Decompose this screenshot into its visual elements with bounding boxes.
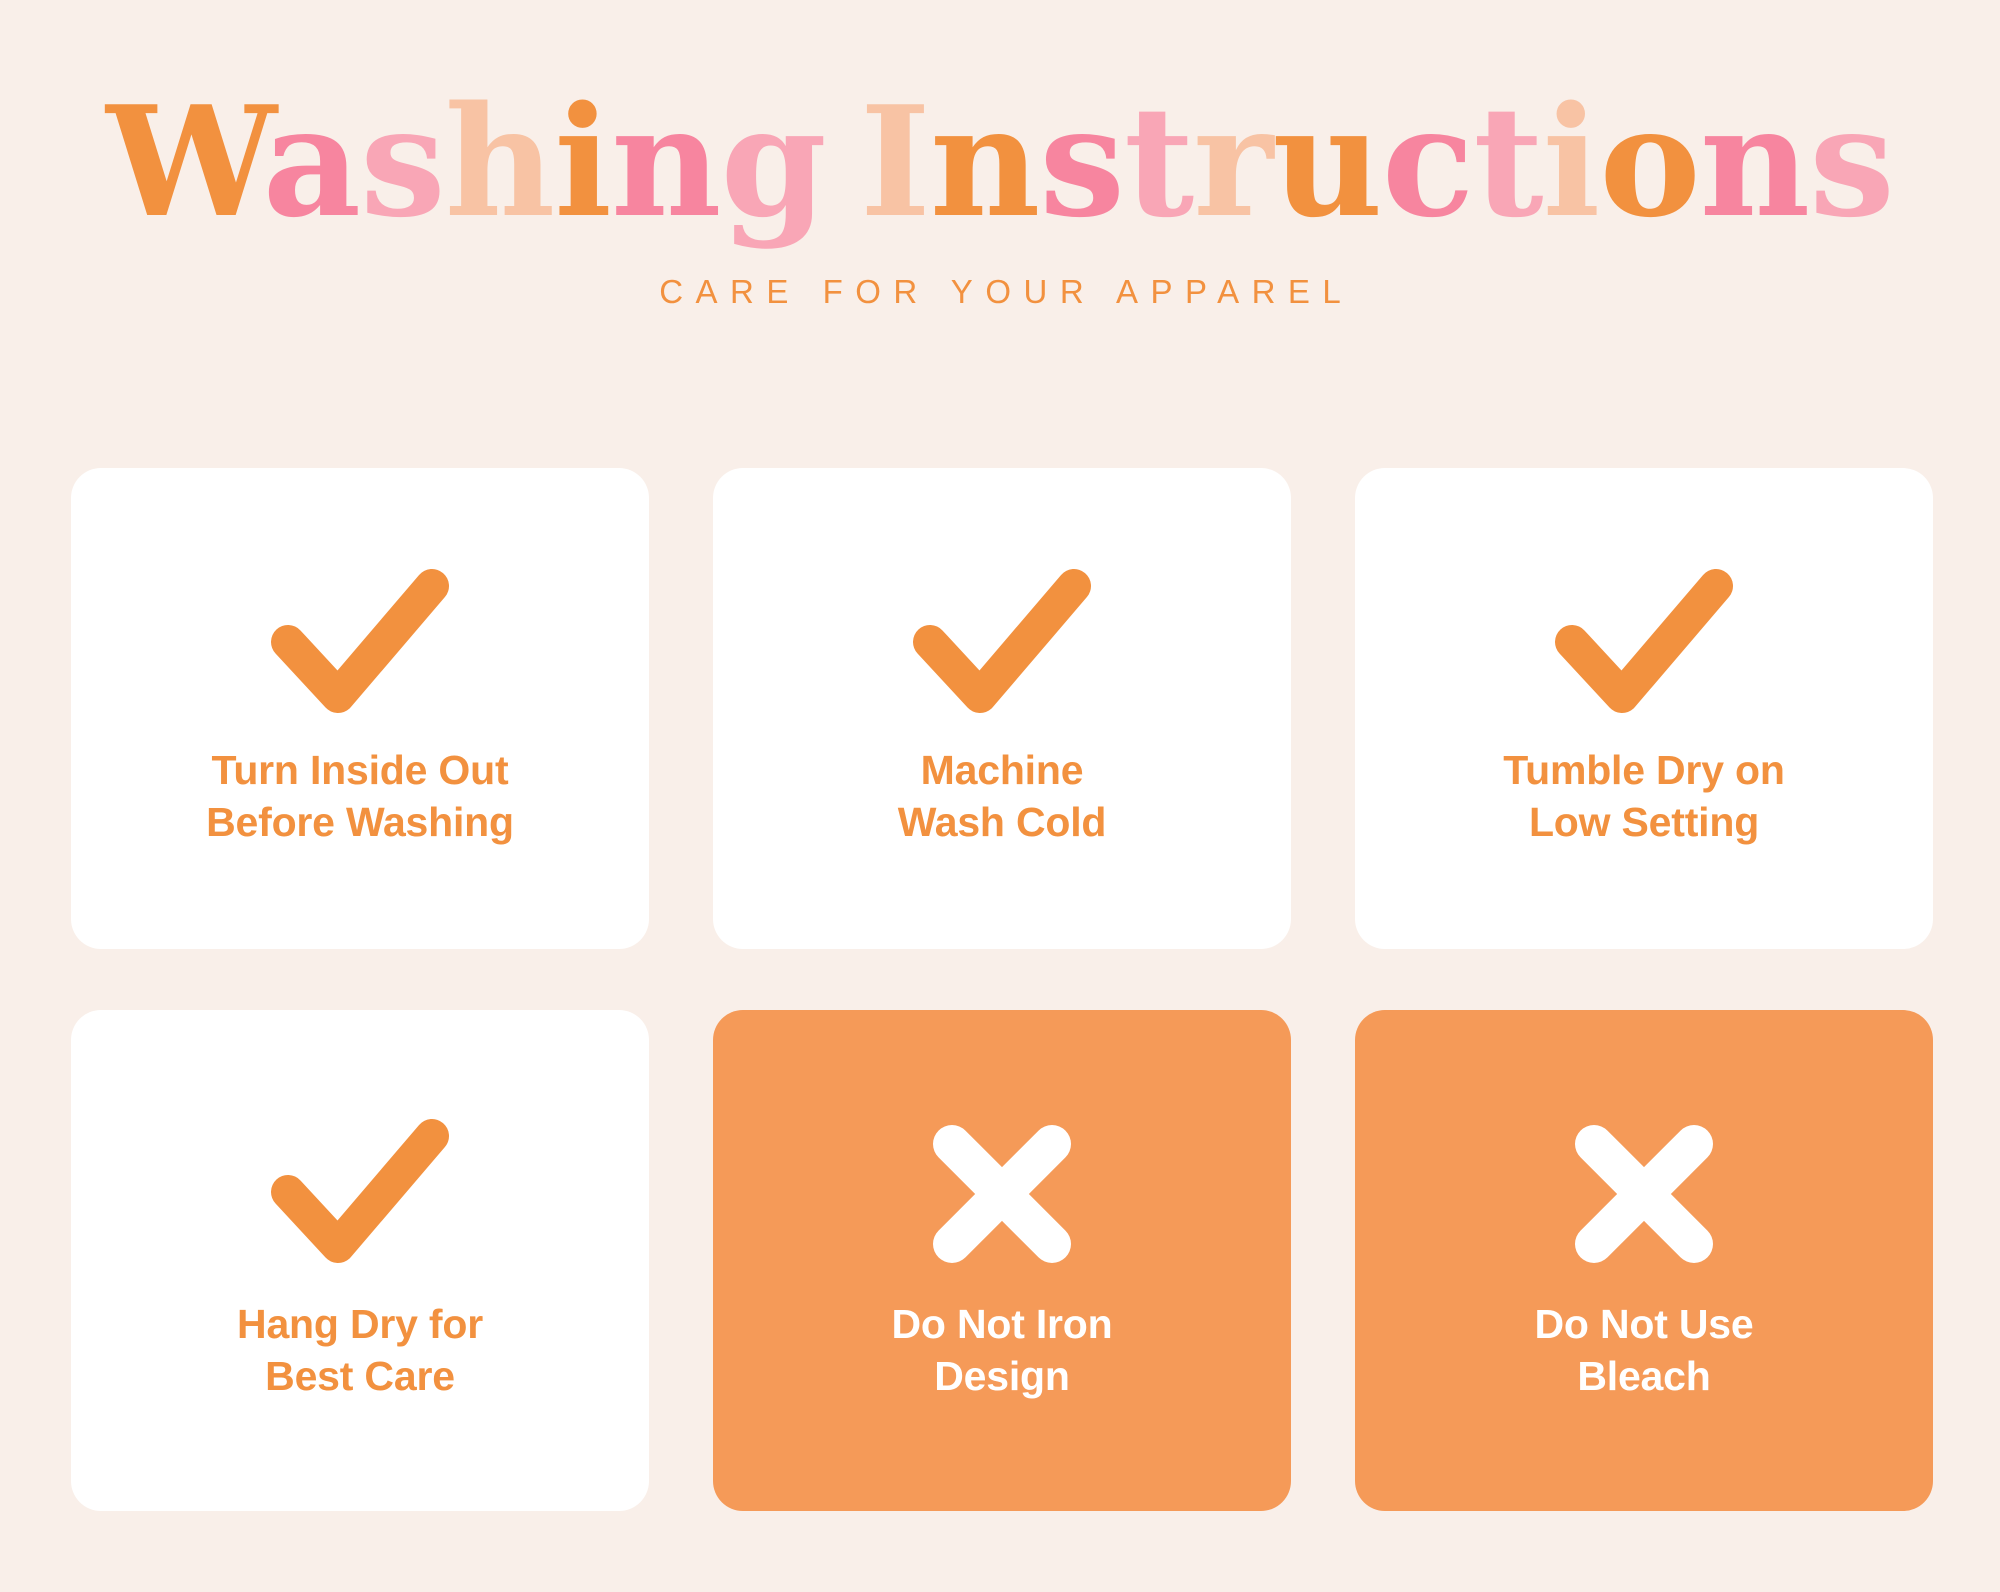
- title-letter: t: [1473, 72, 1542, 251]
- title-letter: t: [1124, 72, 1193, 251]
- care-card-turn-inside-out[interactable]: Turn Inside Out Before Washing: [71, 468, 649, 949]
- check-icon: [271, 569, 449, 719]
- title-letter: c: [1382, 72, 1474, 251]
- poster-canvas: WashingInstructions CARE FOR YOUR APPARE…: [0, 0, 2000, 1592]
- care-card-label: Do Not Iron Design: [892, 1299, 1113, 1402]
- title-letter: s: [1039, 72, 1124, 251]
- title-letter: n: [611, 72, 721, 251]
- care-card-machine-wash-cold[interactable]: Machine Wash Cold: [713, 468, 1291, 949]
- title-letter: u: [1272, 72, 1382, 251]
- title-letter: n: [1700, 72, 1810, 251]
- check-icon: [1555, 569, 1733, 719]
- care-card-label: Tumble Dry on Low Setting: [1503, 745, 1784, 848]
- cross-icon: [927, 1119, 1077, 1269]
- care-card-label: Do Not Use Bleach: [1535, 1299, 1754, 1402]
- title-letter: s: [360, 72, 445, 251]
- title-letter: o: [1599, 72, 1699, 251]
- check-icon: [271, 1119, 449, 1269]
- title-letter: n: [930, 72, 1040, 251]
- care-instruction-grid: Turn Inside Out Before WashingMachine Wa…: [71, 468, 1930, 1511]
- title-letter: s: [1809, 72, 1894, 251]
- care-card-hang-dry[interactable]: Hang Dry for Best Care: [71, 1010, 649, 1511]
- title-letter: g: [721, 72, 826, 251]
- title-letter: W: [106, 72, 263, 251]
- page-title: WashingInstructions: [0, 84, 2000, 239]
- page-subtitle: CARE FOR YOUR APPAREL: [0, 273, 2000, 311]
- title-letter: i: [554, 72, 611, 251]
- care-card-label: Machine Wash Cold: [898, 745, 1107, 848]
- cross-icon: [1569, 1119, 1719, 1269]
- check-icon: [913, 569, 1091, 719]
- care-card-do-not-use-bleach[interactable]: Do Not Use Bleach: [1355, 1010, 1933, 1511]
- care-card-label: Hang Dry for Best Care: [237, 1299, 483, 1402]
- title-letter: i: [1543, 72, 1600, 251]
- care-card-do-not-iron-design[interactable]: Do Not Iron Design: [713, 1010, 1291, 1511]
- title-letter: r: [1193, 72, 1272, 251]
- title-letter: I: [860, 72, 930, 251]
- title-letter: h: [445, 72, 555, 251]
- poster-header: WashingInstructions CARE FOR YOUR APPARE…: [0, 84, 2000, 311]
- care-card-tumble-dry-low[interactable]: Tumble Dry on Low Setting: [1355, 468, 1933, 949]
- title-letter: a: [263, 72, 361, 251]
- care-card-label: Turn Inside Out Before Washing: [206, 745, 514, 848]
